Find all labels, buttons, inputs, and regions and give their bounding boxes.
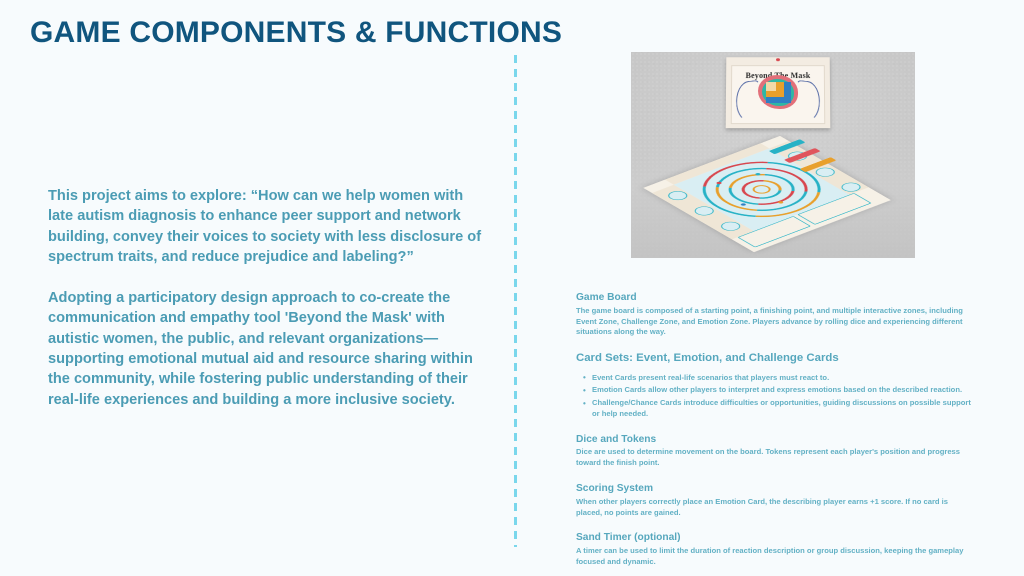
section-body: The game board is composed of a starting…	[576, 306, 972, 338]
vertical-dashed-divider	[514, 55, 517, 547]
project-approach-paragraph: Adopting a participatory design approach…	[48, 288, 490, 411]
list-item: Event Cards present real-life scenarios …	[592, 373, 972, 384]
section-heading: Dice and Tokens	[576, 433, 972, 447]
section-heading: Game Board	[576, 291, 972, 305]
section-body: A timer can be used to limit the duratio…	[576, 546, 972, 568]
section-sand-timer: Sand Timer (optional) A timer can be use…	[576, 531, 972, 567]
game-board-area	[649, 118, 899, 258]
section-body: Dice are used to determine movement on t…	[576, 447, 972, 469]
section-heading: Card Sets: Event, Emotion, and Challenge…	[576, 351, 972, 366]
section-card-sets: Card Sets: Event, Emotion, and Challenge…	[576, 351, 972, 420]
game-box-lid-artwork: Beyond The Mask	[731, 65, 825, 124]
section-heading: Sand Timer (optional)	[576, 531, 972, 545]
section-dice-and-tokens: Dice and Tokens Dice are used to determi…	[576, 433, 972, 469]
list-item: Emotion Cards allow other players to int…	[592, 385, 972, 396]
board-game-photo: Beyond The Mask	[631, 52, 915, 258]
card-sets-bullet-list: Event Cards present real-life scenarios …	[576, 373, 972, 420]
concentric-speech-blob-icon	[758, 75, 798, 109]
page-title: GAME COMPONENTS & FUNCTIONS	[30, 16, 562, 50]
right-text-column: Game Board The game board is composed of…	[576, 291, 972, 568]
box-lid-dot-icon	[776, 58, 780, 61]
list-item: Challenge/Chance Cards introduce difficu…	[592, 398, 972, 420]
section-heading: Scoring System	[576, 482, 972, 496]
section-scoring-system: Scoring System When other players correc…	[576, 482, 972, 518]
left-text-column: This project aims to explore: “How can w…	[48, 186, 490, 410]
section-body: When other players correctly place an Em…	[576, 497, 972, 519]
section-game-board: Game Board The game board is composed of…	[576, 291, 972, 338]
project-aim-paragraph: This project aims to explore: “How can w…	[48, 186, 490, 268]
game-board	[643, 136, 891, 252]
